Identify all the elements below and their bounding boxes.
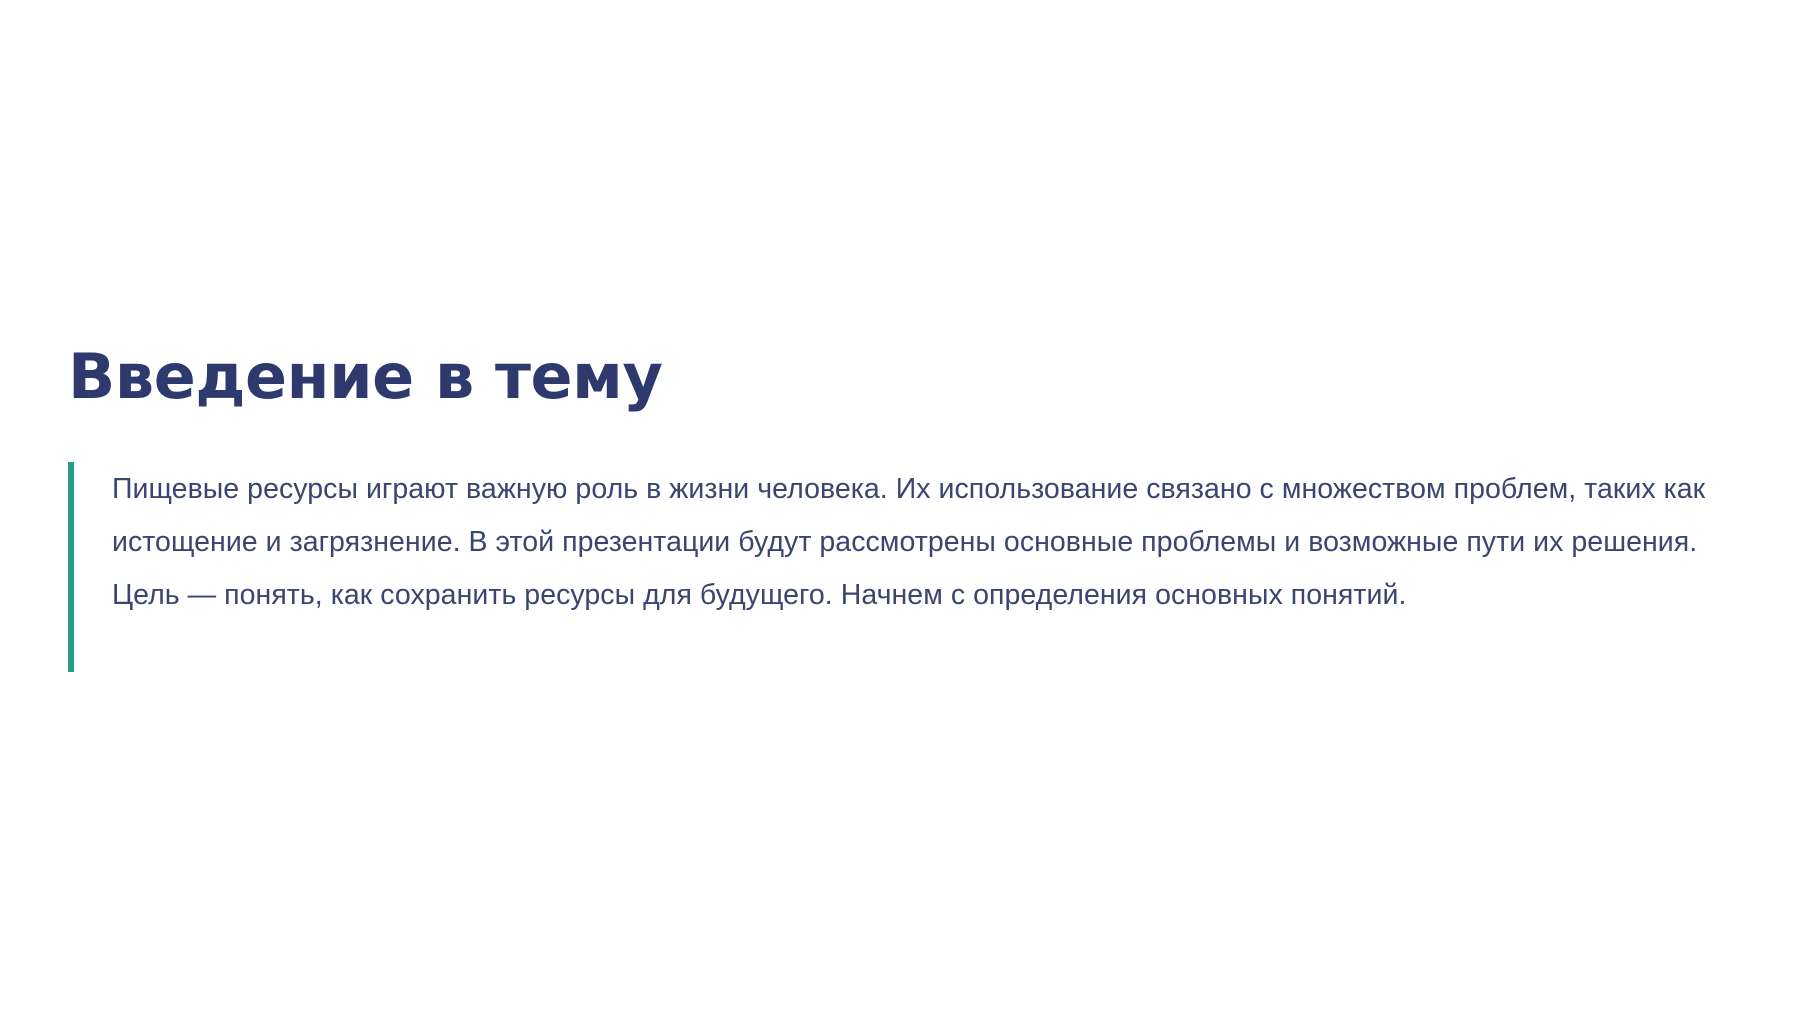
body-paragraph: Пищевые ресурсы играют важную роль в жиз… bbox=[74, 462, 1722, 672]
page-title: Введение в тему bbox=[68, 344, 1708, 411]
body-callout-block: Пищевые ресурсы играют важную роль в жиз… bbox=[68, 462, 1722, 672]
presentation-slide: Введение в тему Пищевые ресурсы играют в… bbox=[0, 0, 1800, 1013]
